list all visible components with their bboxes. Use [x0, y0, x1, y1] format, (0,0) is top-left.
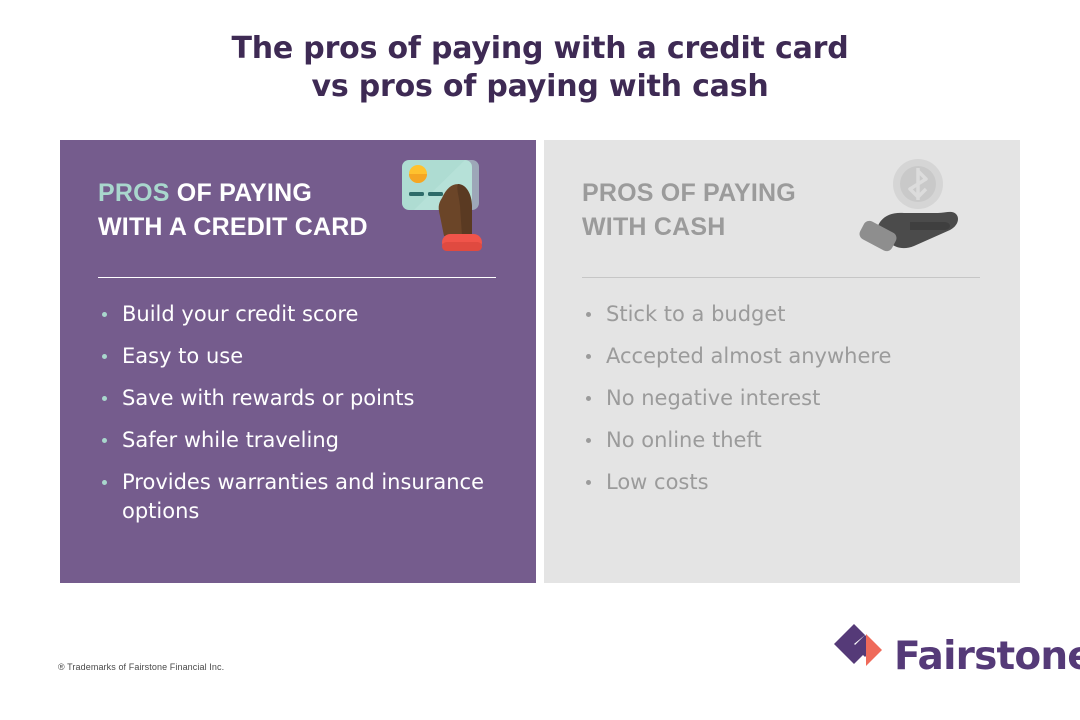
list-item: No online theft	[578, 426, 990, 455]
page-title: The pros of paying with a credit card vs…	[0, 30, 1080, 106]
list-item: Provides warranties and insurance option…	[94, 468, 506, 526]
heading-accent-pros: PROS	[98, 179, 170, 207]
fairstone-wordmark: Fairstone®	[894, 630, 1080, 679]
trademark-notice: ® Trademarks of Fairstone Financial Inc.	[58, 662, 224, 672]
coin-in-open-hand-icon	[852, 158, 962, 258]
credit-card-pros-list: Build your credit score Easy to use Save…	[94, 300, 506, 539]
list-item: Safer while traveling	[94, 426, 506, 455]
fairstone-logo: Fairstone®	[832, 620, 1028, 680]
credit-card-panel-heading: PROS OF PAYING WITH A CREDIT CARD	[98, 176, 428, 244]
list-item: Save with rewards or points	[94, 384, 506, 413]
list-item: No negative interest	[578, 384, 990, 413]
credit-card-in-hand-icon	[400, 154, 492, 256]
credit-card-pros-panel: PROS OF PAYING WITH A CREDIT CARD Build …	[60, 140, 536, 583]
brand-name: Fairstone	[894, 634, 1080, 679]
heading-line-1: PROS OF PAYING	[582, 179, 796, 207]
heading-rest: OF PAYING	[170, 179, 312, 207]
heading-line-2: WITH A CREDIT CARD	[98, 213, 368, 241]
cash-pros-list: Stick to a budget Accepted almost anywhe…	[578, 300, 990, 510]
page-title-line-2: vs pros of paying with cash	[0, 68, 1080, 106]
list-item: Low costs	[578, 468, 990, 497]
left-panel-divider	[98, 277, 496, 278]
list-item: Easy to use	[94, 342, 506, 371]
fairstone-logo-mark-icon	[832, 622, 890, 678]
list-item: Accepted almost anywhere	[578, 342, 990, 371]
right-panel-divider	[582, 277, 980, 278]
list-item: Stick to a budget	[578, 300, 990, 329]
list-item: Build your credit score	[94, 300, 506, 329]
page-title-line-1: The pros of paying with a credit card	[0, 30, 1080, 68]
cash-pros-panel: PROS OF PAYING WITH CASH Stick to a budg…	[544, 140, 1020, 583]
heading-line-2: WITH CASH	[582, 213, 725, 241]
